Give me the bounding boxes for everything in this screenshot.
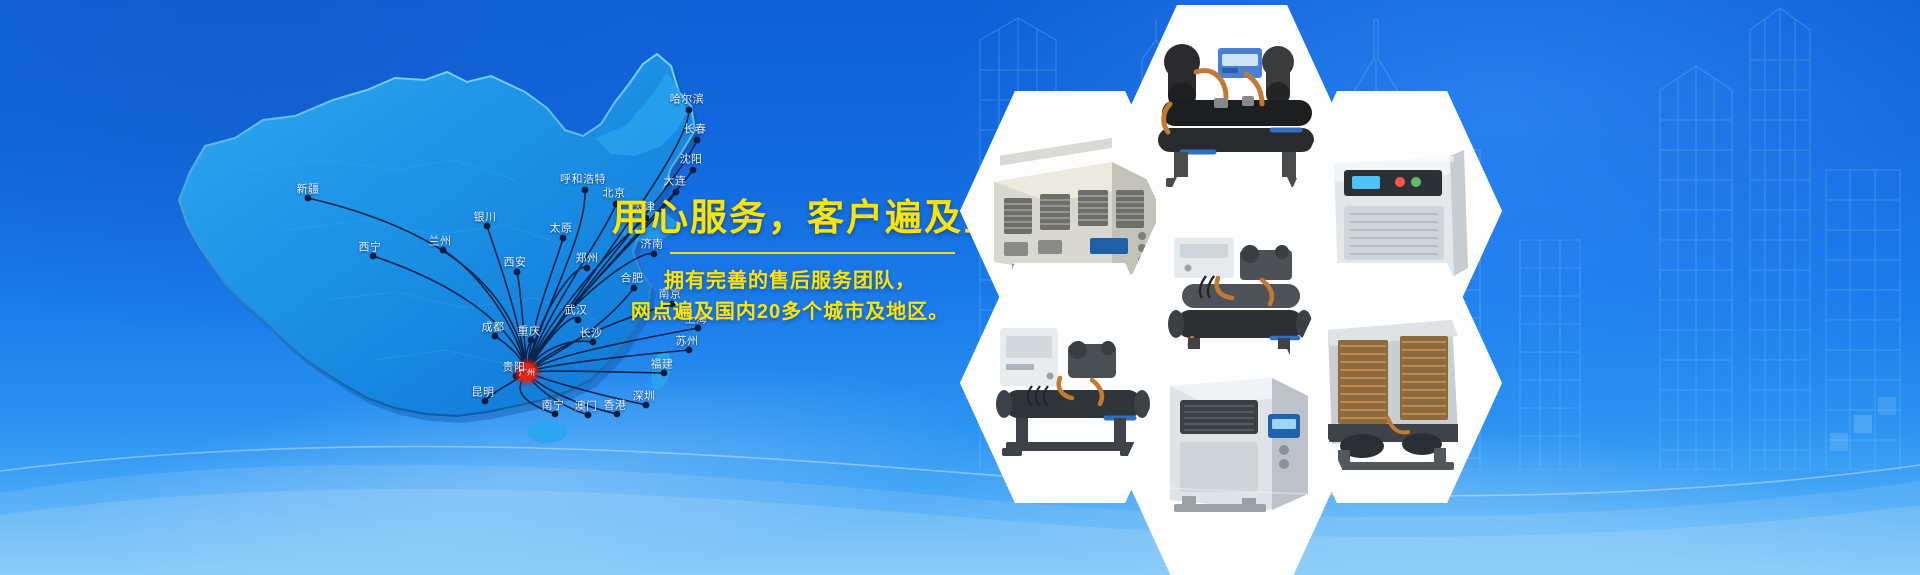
banner-copy: 用心服务，客户遍及全国 拥有完善的售后服务团队， 网点遍及国内20多个城市及地区…	[612, 196, 1012, 328]
map-city-label: 香港	[604, 401, 627, 412]
map-city-label: 呼和浩特	[560, 175, 606, 186]
map-city-label: 武汉	[565, 306, 588, 317]
banner-subtitle-line-1: 拥有完善的售后服务团队，	[620, 266, 960, 297]
map-city-label: 郑州	[576, 254, 599, 265]
map-city-label: 南宁	[542, 401, 565, 412]
map-city-label: 苏州	[676, 337, 699, 348]
map-city-label: 太原	[550, 224, 573, 235]
map-city-label: 新疆	[297, 185, 320, 196]
product-hexagon-grid	[960, 0, 1920, 470]
promo-banner: 广州 哈尔滨 长春 沈阳 大连 呼和浩特 北京 天津 新疆 银川 太原 兰州 西…	[0, 0, 1920, 575]
map-city-label: 重庆	[518, 327, 541, 338]
map-city-label: 银川	[474, 213, 497, 224]
map-city-label: 大连	[664, 177, 687, 188]
map-city-label: 福建	[651, 360, 674, 371]
map-city-label: 哈尔滨	[670, 95, 705, 106]
map-city-label: 长沙	[580, 329, 603, 340]
banner-subtitle-line-2: 网点遍及国内20多个城市及地区。	[620, 297, 960, 328]
map-city-label: 贵阳	[503, 363, 526, 374]
map-city-label: 深圳	[633, 392, 656, 403]
map-city-label: 兰州	[429, 237, 452, 248]
map-city-label: 西安	[504, 258, 527, 269]
map-city-label: 澳门	[575, 402, 598, 413]
map-city-label: 沈阳	[680, 155, 703, 166]
banner-headline: 用心服务，客户遍及全国	[612, 196, 1012, 240]
map-city-label: 长春	[684, 125, 707, 136]
headline-divider	[670, 252, 955, 254]
map-city-label: 西宁	[359, 243, 382, 254]
map-city-label: 昆明	[472, 388, 495, 399]
map-city-label: 成都	[482, 323, 505, 334]
